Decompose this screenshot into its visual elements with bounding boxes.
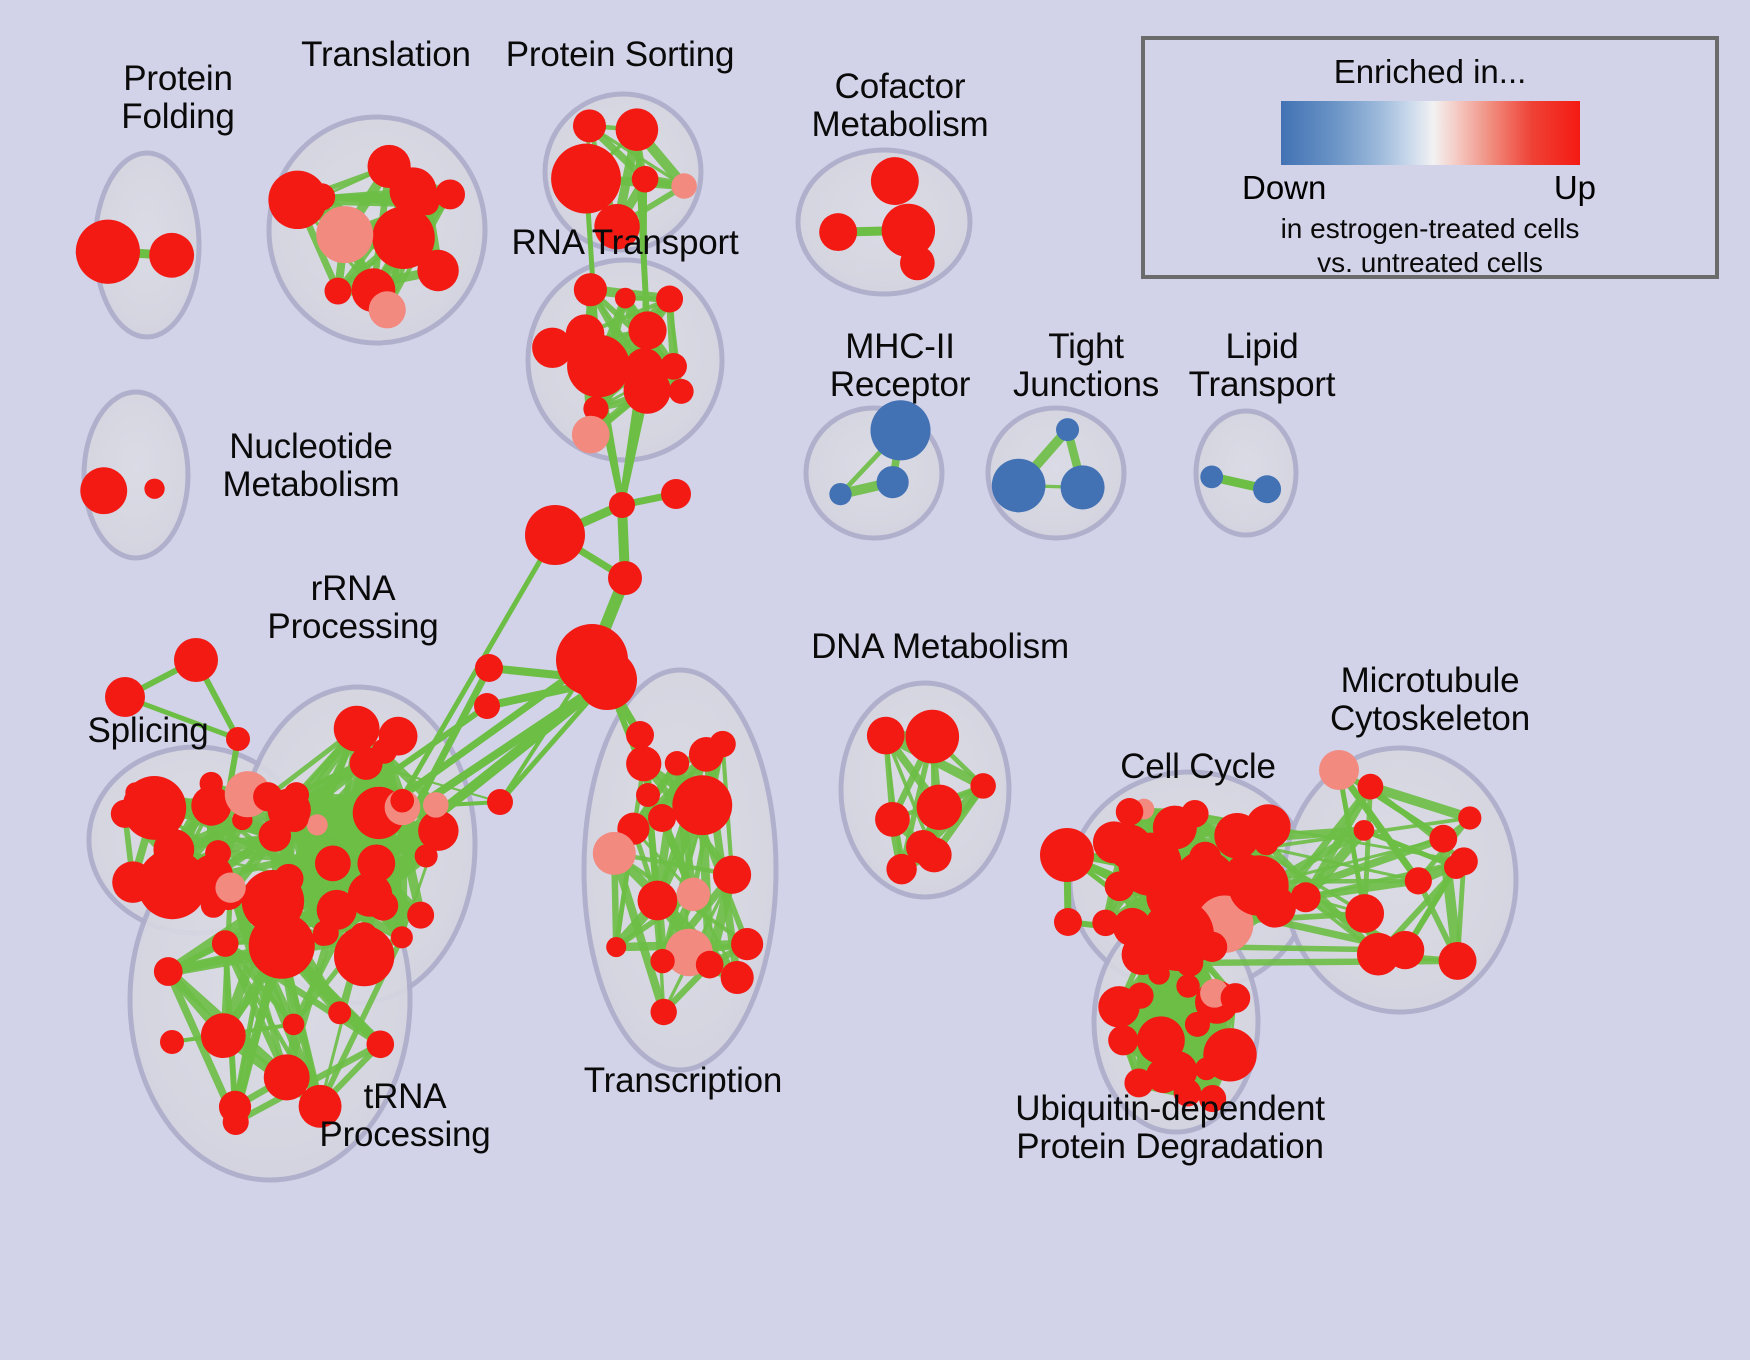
network-node[interactable] xyxy=(867,717,905,755)
legend-down-label: Down xyxy=(1242,169,1326,207)
network-node[interactable] xyxy=(1405,867,1432,894)
network-node[interactable] xyxy=(650,999,676,1025)
network-node[interactable] xyxy=(1061,465,1105,509)
network-node[interactable] xyxy=(316,206,373,263)
network-node[interactable] xyxy=(1040,828,1094,882)
network-node[interactable] xyxy=(669,379,694,404)
network-node[interactable] xyxy=(1253,475,1281,503)
network-node[interactable] xyxy=(391,926,413,948)
network-node[interactable] xyxy=(1458,806,1481,829)
network-node[interactable] xyxy=(215,872,245,902)
network-node[interactable] xyxy=(696,951,724,979)
network-node[interactable] xyxy=(76,220,140,284)
network-node[interactable] xyxy=(1200,466,1223,489)
network-node[interactable] xyxy=(112,861,153,902)
network-node[interactable] xyxy=(905,710,959,764)
network-node[interactable] xyxy=(1354,820,1375,841)
network-node[interactable] xyxy=(111,800,139,828)
network-node[interactable] xyxy=(577,650,637,710)
network-node[interactable] xyxy=(636,783,660,807)
network-node[interactable] xyxy=(369,291,406,328)
cluster-label-protein-folding: Protein Folding xyxy=(78,60,278,136)
network-node[interactable] xyxy=(1054,908,1082,936)
network-node[interactable] xyxy=(665,751,689,775)
legend-color-gradient-bar xyxy=(1281,101,1580,165)
network-node[interactable] xyxy=(223,1109,249,1135)
network-node[interactable] xyxy=(650,949,674,973)
network-node[interactable] xyxy=(149,233,194,278)
network-node[interactable] xyxy=(1105,871,1135,901)
network-node[interactable] xyxy=(200,772,223,795)
network-node[interactable] xyxy=(1358,774,1384,800)
cluster-label-dna-metabolism: DNA Metabolism xyxy=(810,628,1070,666)
network-node[interactable] xyxy=(532,328,572,368)
network-node[interactable] xyxy=(721,961,754,994)
network-node[interactable] xyxy=(475,654,503,682)
network-node[interactable] xyxy=(638,881,678,921)
network-node[interactable] xyxy=(731,928,763,960)
cluster-label-microtubule-cytoskeleton: Microtubule Cytoskeleton xyxy=(1300,662,1560,738)
network-node[interactable] xyxy=(1189,842,1221,874)
network-node[interactable] xyxy=(660,353,687,380)
network-node[interactable] xyxy=(368,145,411,188)
network-node[interactable] xyxy=(661,479,691,509)
cluster-label-trna-processing: tRNA Processing xyxy=(300,1078,510,1154)
network-node[interactable] xyxy=(1093,821,1135,863)
network-node[interactable] xyxy=(574,273,607,306)
network-node[interactable] xyxy=(606,937,626,957)
network-node[interactable] xyxy=(671,173,697,199)
legend-subtitle-line1: in estrogen-treated cells xyxy=(1145,213,1715,245)
network-node[interactable] xyxy=(368,890,398,920)
network-node[interactable] xyxy=(573,109,606,142)
network-node[interactable] xyxy=(900,246,935,281)
network-node[interactable] xyxy=(656,286,683,313)
network-node[interactable] xyxy=(174,638,218,682)
legend-endpoints: Down Up xyxy=(1240,169,1620,211)
network-node[interactable] xyxy=(366,1030,394,1058)
cluster-label-mhc-ii-receptor: MHC-II Receptor xyxy=(800,328,1000,404)
network-node[interactable] xyxy=(1092,910,1118,936)
cluster-label-translation: Translation xyxy=(276,36,496,74)
cluster-label-ubiquitin-degradation: Ubiquitin-dependent Protein Degradation xyxy=(990,1090,1350,1166)
network-node[interactable] xyxy=(144,479,164,499)
network-node[interactable] xyxy=(628,311,666,349)
network-node[interactable] xyxy=(1429,825,1457,853)
network-node[interactable] xyxy=(906,830,940,864)
network-node[interactable] xyxy=(877,466,909,498)
network-node[interactable] xyxy=(632,166,659,193)
network-node[interactable] xyxy=(648,804,676,832)
network-node[interactable] xyxy=(268,171,326,229)
network-node[interactable] xyxy=(992,459,1046,513)
network-node[interactable] xyxy=(609,492,635,518)
network-node[interactable] xyxy=(1056,418,1079,441)
network-node[interactable] xyxy=(283,1014,305,1036)
network-node[interactable] xyxy=(315,845,351,881)
network-node[interactable] xyxy=(1181,800,1209,828)
network-node[interactable] xyxy=(615,288,636,309)
network-node[interactable] xyxy=(1254,886,1296,928)
network-node[interactable] xyxy=(608,561,642,595)
cluster-label-cell-cycle: Cell Cycle xyxy=(1098,748,1298,786)
network-node[interactable] xyxy=(871,157,919,205)
network-node[interactable] xyxy=(1221,983,1251,1013)
network-node[interactable] xyxy=(1291,882,1321,912)
network-node[interactable] xyxy=(307,814,328,835)
network-node[interactable] xyxy=(829,483,851,505)
network-node[interactable] xyxy=(525,505,585,565)
network-node[interactable] xyxy=(626,721,654,749)
cluster-label-rrna-processing: rRNA Processing xyxy=(248,570,458,646)
network-node[interactable] xyxy=(1176,974,1199,997)
legend-title: Enriched in... xyxy=(1145,53,1715,91)
legend-subtitle-line2: vs. untreated cells xyxy=(1145,247,1715,279)
network-node[interactable] xyxy=(672,775,732,835)
network-node[interactable] xyxy=(201,1013,246,1058)
network-node[interactable] xyxy=(870,400,930,460)
network-node[interactable] xyxy=(154,957,183,986)
network-node[interactable] xyxy=(390,789,414,813)
network-node[interactable] xyxy=(1444,855,1468,879)
network-node[interactable] xyxy=(917,785,962,830)
cluster-label-cofactor-metabolism: Cofactor Metabolism xyxy=(790,68,1010,144)
network-node[interactable] xyxy=(160,1030,184,1054)
network-node[interactable] xyxy=(80,467,127,514)
cluster-label-tight-junctions: Tight Junctions xyxy=(986,328,1186,404)
network-node[interactable] xyxy=(970,773,995,798)
network-canvas: Protein FoldingTranslationProtein Sortin… xyxy=(0,0,1750,1360)
cluster-label-rna-transport: RNA Transport xyxy=(500,224,750,262)
legend-panel: Enriched in... Down Up in estrogen-treat… xyxy=(1141,36,1719,279)
network-node[interactable] xyxy=(1319,750,1359,790)
cluster-label-lipid-transport: Lipid Transport xyxy=(1162,328,1362,404)
network-node[interactable] xyxy=(253,782,282,811)
network-node[interactable] xyxy=(407,902,434,929)
network-node[interactable] xyxy=(328,1001,351,1024)
network-node[interactable] xyxy=(423,792,449,818)
network-node[interactable] xyxy=(593,832,636,875)
network-node[interactable] xyxy=(1108,1025,1138,1055)
network-node[interactable] xyxy=(1142,899,1214,971)
network-node[interactable] xyxy=(1345,894,1384,933)
network-node[interactable] xyxy=(875,802,910,837)
network-node[interactable] xyxy=(379,717,418,756)
network-node[interactable] xyxy=(474,693,500,719)
cluster-label-transcription: Transcription xyxy=(568,1062,798,1100)
network-node[interactable] xyxy=(819,213,857,251)
network-node[interactable] xyxy=(677,878,711,912)
cluster-label-protein-sorting: Protein Sorting xyxy=(490,36,750,74)
network-node[interactable] xyxy=(212,930,239,957)
network-node[interactable] xyxy=(636,750,660,774)
network-node[interactable] xyxy=(1203,1028,1256,1081)
network-node[interactable] xyxy=(417,250,458,291)
cluster-label-splicing: Splicing xyxy=(58,712,238,750)
network-node[interactable] xyxy=(487,789,513,815)
network-node[interactable] xyxy=(125,782,146,803)
network-node[interactable] xyxy=(349,922,378,951)
network-node[interactable] xyxy=(572,416,610,454)
network-node[interactable] xyxy=(242,870,304,932)
network-node[interactable] xyxy=(616,108,659,151)
network-node[interactable] xyxy=(1246,804,1291,849)
network-node[interactable] xyxy=(1439,942,1477,980)
network-node[interactable] xyxy=(1098,986,1139,1027)
network-node[interactable] xyxy=(435,179,465,209)
network-node[interactable] xyxy=(713,856,751,894)
legend-up-label: Up xyxy=(1554,169,1596,207)
network-node[interactable] xyxy=(1116,798,1144,826)
network-node[interactable] xyxy=(313,925,334,946)
network-node[interactable] xyxy=(325,278,352,305)
network-node[interactable] xyxy=(334,706,380,752)
network-node[interactable] xyxy=(551,144,621,214)
network-node[interactable] xyxy=(709,731,735,757)
cluster-label-nucleotide-metabolism: Nucleotide Metabolism xyxy=(196,428,426,504)
network-node[interactable] xyxy=(1357,933,1400,976)
